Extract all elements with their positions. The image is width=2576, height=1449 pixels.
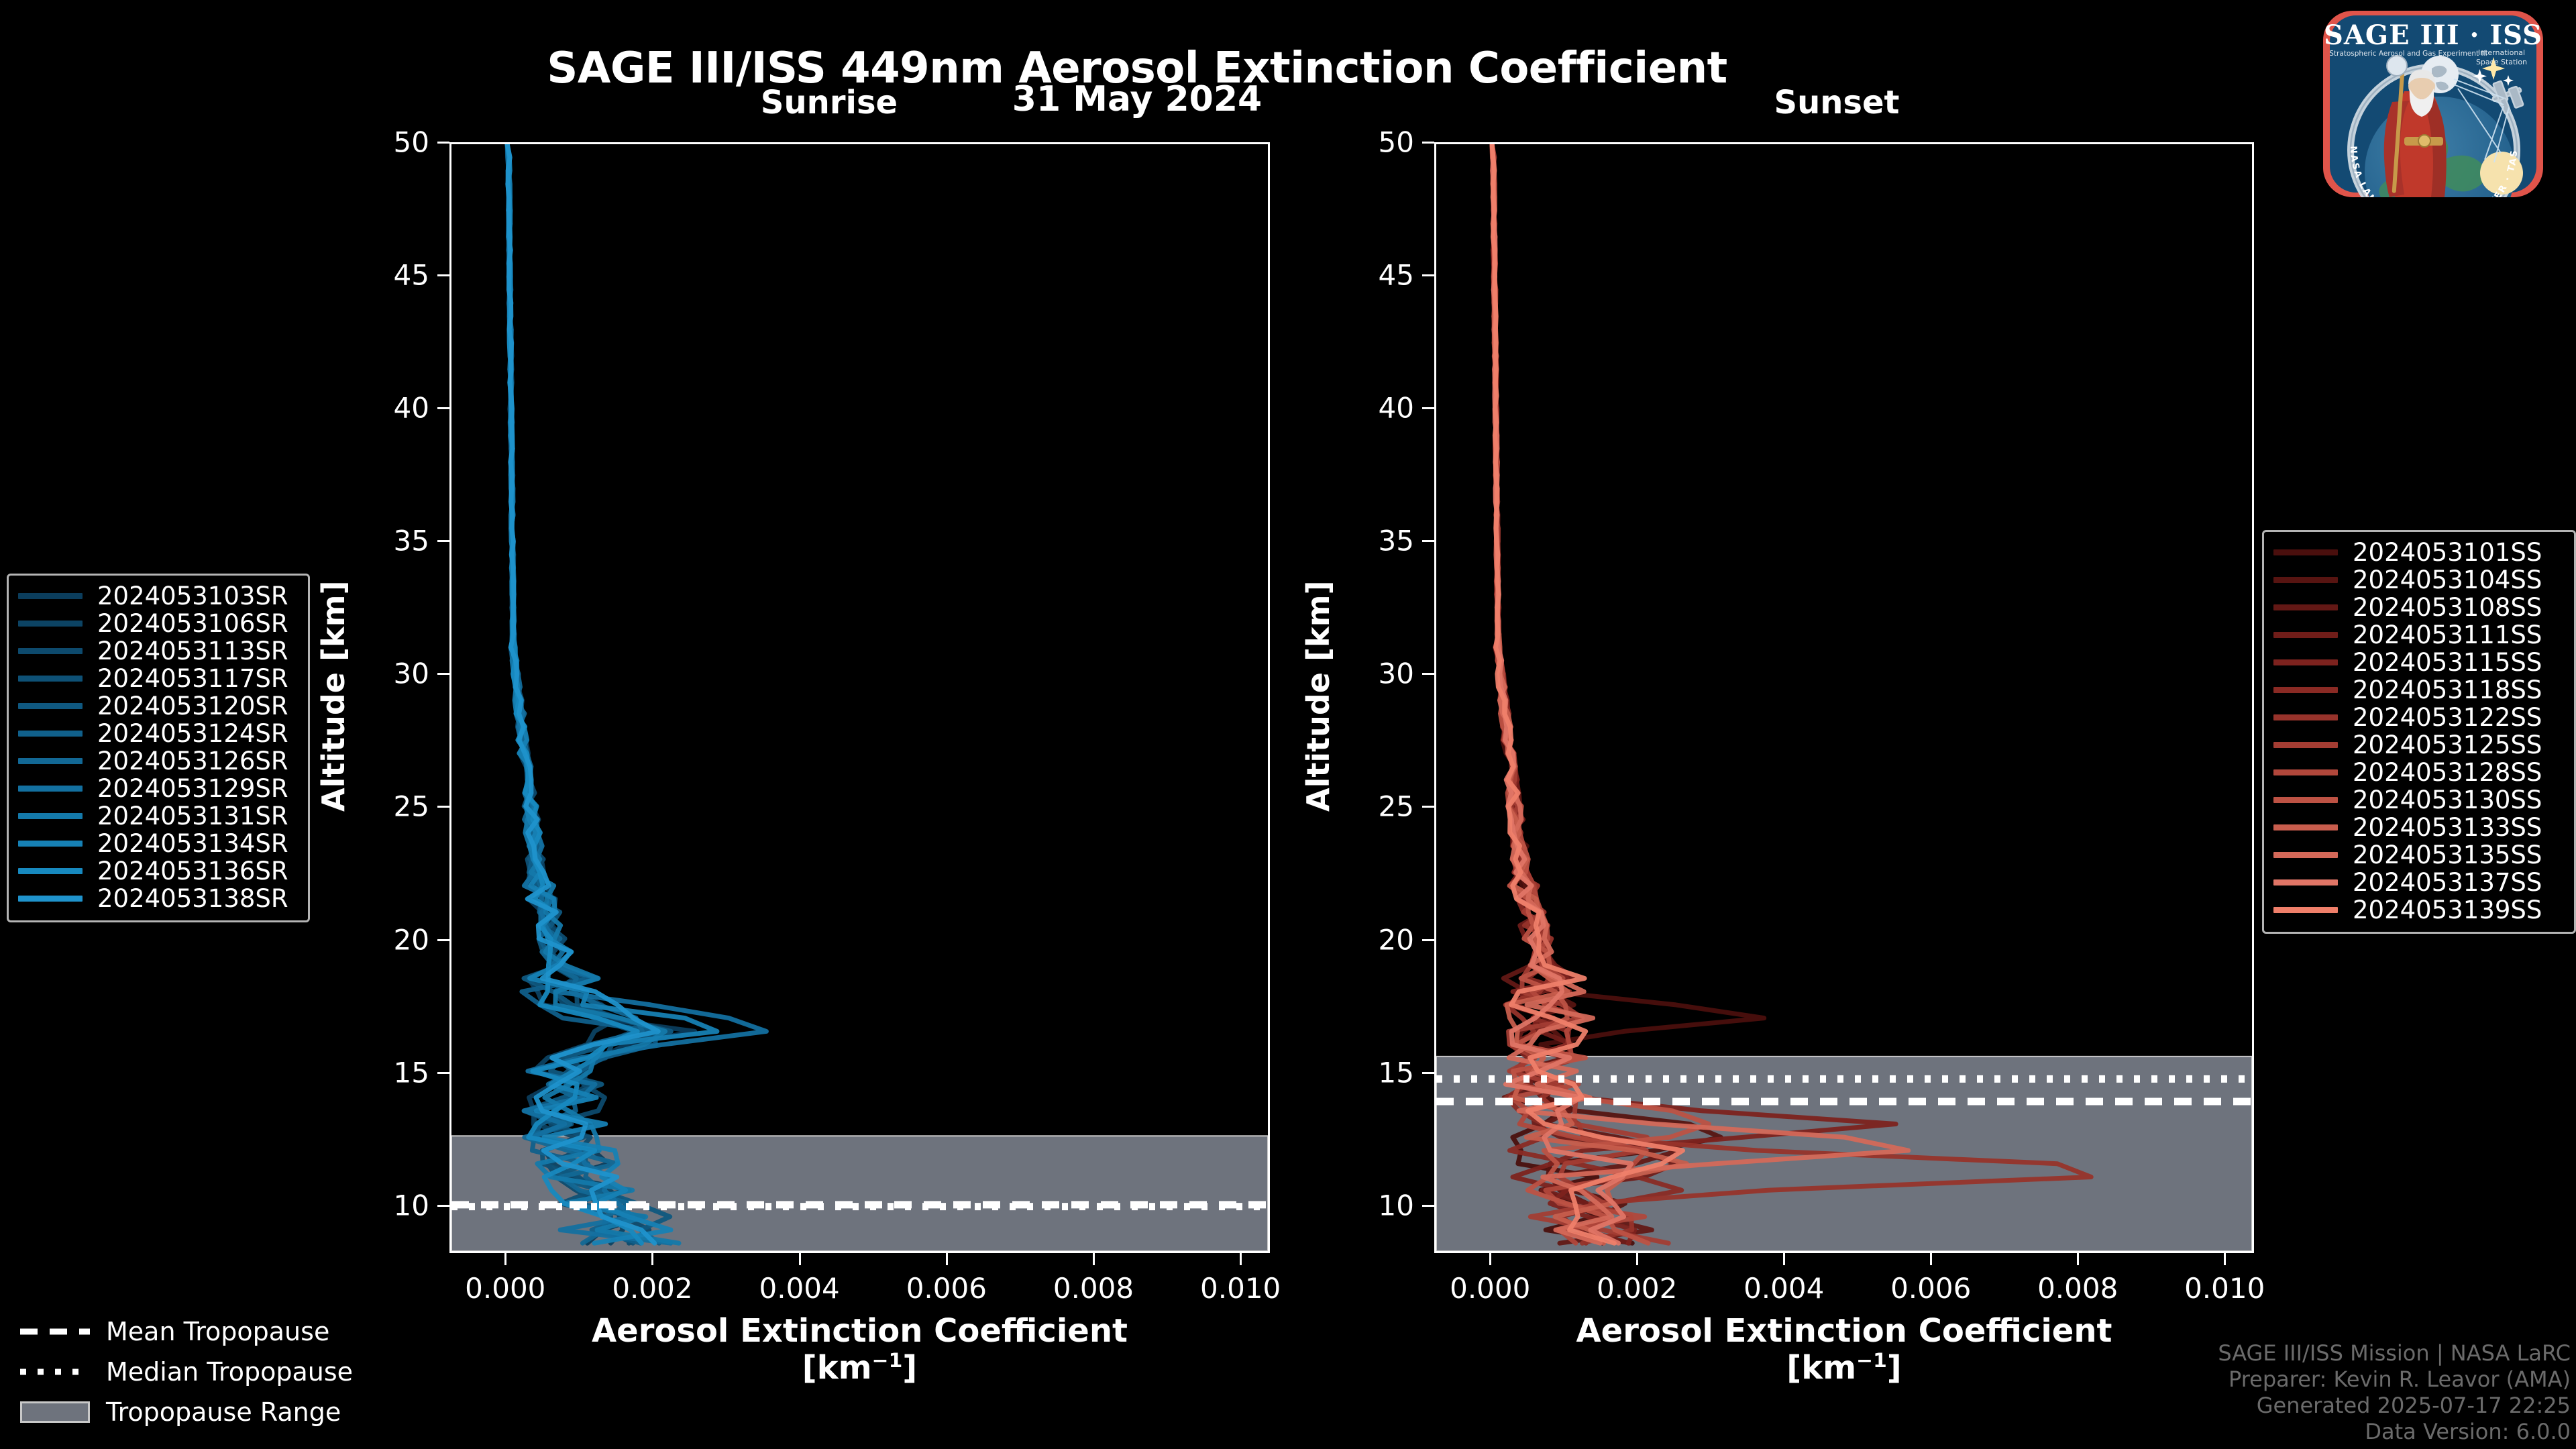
legend-color-swatch [18,758,83,764]
dotted-line-icon [20,1364,90,1380]
credits-line-4: Data Version: 6.0.0 [2218,1419,2571,1445]
legend-label: 2024053130SS [2353,786,2542,814]
x-tick-mark [2077,1253,2079,1265]
dashed-line-icon [20,1324,90,1340]
legend-item[interactable]: 2024053137SS [2273,869,2565,896]
y-tick-mark [1422,1205,1434,1207]
legend-color-swatch [2273,907,2338,913]
legend-item[interactable]: 2024053108SS [2273,594,2565,621]
y-tick-mark [1422,274,1434,276]
y-tick-mark [437,274,449,276]
legend-label: 2024053115SS [2353,648,2542,677]
legend-label: 2024053113SR [97,637,288,665]
legend-label: 2024053117SR [97,664,288,693]
legend-color-swatch [2273,687,2338,693]
legend-item[interactable]: 2024053103SR [18,582,299,610]
profile-line [507,144,671,1243]
legend-item[interactable]: 2024053117SR [18,665,299,692]
y-tick-label: 45 [349,259,429,292]
panel-title-sunset: Sunset [1689,84,1984,121]
logo-subtitle-left: Stratospheric Aerosol and Gas Experiment… [2329,50,2487,58]
y-tick-label: 30 [1334,657,1414,690]
legend-item[interactable]: 2024053129SR [18,775,299,802]
legend-item-mean-tropopause: Mean Tropopause [20,1311,396,1352]
logo-subtitle-right-1: International [2478,48,2525,57]
legend-sunrise[interactable]: 2024053103SR2024053106SR2024053113SR2024… [7,574,310,922]
x-tick-label: 0.006 [1890,1272,1971,1305]
logo-title: SAGE III · ISS [2324,19,2542,51]
x-axis-label: Aerosol Extinction Coefficient[km−1] [449,1313,1270,1387]
x-tick-mark [1783,1253,1785,1265]
legend-label: 2024053135SS [2353,841,2542,869]
legend-color-swatch [2273,879,2338,885]
panel-title-sunrise: Sunrise [682,84,977,121]
legend-color-swatch [18,731,83,737]
legend-label: 2024053133SS [2353,813,2542,842]
x-tick-label: 0.002 [612,1272,692,1305]
y-tick-mark [437,939,449,941]
y-tick-mark [1422,407,1434,409]
plot-area-sunrise [449,142,1270,1253]
profile-line [507,144,679,1243]
legend-color-swatch [2273,714,2338,720]
legend-label: 2024053139SS [2353,896,2542,924]
legend-color-swatch [2273,659,2338,665]
profile-lines-sunset [1436,144,2252,1251]
legend-color-swatch [2273,797,2338,803]
legend-color-swatch [2273,577,2338,583]
y-tick-label: 15 [349,1056,429,1089]
y-tick-label: 50 [349,126,429,159]
x-tick-mark [1636,1253,1638,1265]
legend-item[interactable]: 2024053134SR [18,830,299,857]
x-tick-mark [946,1253,948,1265]
legend-item[interactable]: 2024053136SR [18,857,299,885]
figure-root: SAGE III/ISS 449nm Aerosol Extinction Co… [0,0,2576,1449]
x-tick-label: 0.008 [1053,1272,1134,1305]
legend-label: 2024053101SS [2353,538,2542,567]
y-tick-label: 50 [1334,126,1414,159]
profile-line [507,144,766,1243]
legend-color-swatch [18,648,83,654]
x-tick-mark [1930,1253,1932,1265]
legend-label: 2024053118SS [2353,676,2542,704]
legend-item-median-tropopause: Median Tropopause [20,1352,396,1392]
y-tick-mark [1422,1072,1434,1074]
logo-subtitle-right-2: Space Station [2476,58,2527,66]
x-tick-label: 0.002 [1597,1272,1677,1305]
x-tick-mark [1240,1253,1242,1265]
y-tick-mark [1422,673,1434,675]
credits-line-1: SAGE III/ISS Mission | NASA LaRC [2218,1340,2571,1366]
legend-label: 2024053134SR [97,829,288,858]
legend-color-swatch [18,841,83,847]
legend-color-swatch [2273,604,2338,610]
x-tick-mark [1093,1253,1095,1265]
credits-block: SAGE III/ISS Mission | NASA LaRC Prepare… [2218,1340,2571,1445]
y-tick-mark [1422,806,1434,808]
legend-item[interactable]: 2024053104SS [2273,566,2565,594]
y-tick-label: 35 [1334,525,1414,557]
legend-label: 2024053122SS [2353,703,2542,732]
legend-color-swatch [2273,769,2338,775]
y-tick-label: 10 [1334,1189,1414,1222]
sage-iii-iss-logo: BALL · NASA LANGLEY RESEARCH CENTER · TA… [2302,4,2564,197]
legend-label: 2024053129SR [97,774,288,803]
legend-label: 2024053111SS [2353,621,2542,649]
tropopause-range-label: Tropopause Range [106,1397,341,1427]
legend-color-swatch [2273,742,2338,748]
legend-color-swatch [18,813,83,819]
legend-label: 2024053103SR [97,582,288,610]
y-tick-label: 25 [349,790,429,823]
y-tick-mark [437,673,449,675]
legend-color-swatch [2273,549,2338,555]
tropopause-legend: Mean Tropopause Median Tropopause Tropop… [20,1311,396,1432]
legend-label: 2024053104SS [2353,566,2542,594]
y-tick-mark [437,1072,449,1074]
legend-color-swatch [18,786,83,792]
median-tropopause-label: Median Tropopause [106,1357,353,1387]
legend-item[interactable]: 2024053115SS [2273,649,2565,676]
legend-label: 2024053126SR [97,747,288,775]
x-tick-label: 0.004 [1743,1272,1824,1305]
y-tick-label: 20 [349,923,429,956]
legend-label: 2024053124SR [97,719,288,748]
x-tick-label: 0.010 [2184,1272,2265,1305]
x-tick-label: 0.000 [465,1272,545,1305]
legend-item[interactable]: 2024053139SS [2273,896,2565,924]
legend-color-swatch [18,676,83,682]
y-axis-label: Altitude [km] [315,580,352,812]
legend-label: 2024053138SR [97,884,288,913]
legend-item[interactable]: 2024053124SR [18,720,299,747]
legend-color-swatch [18,703,83,709]
legend-item[interactable]: 2024053130SS [2273,786,2565,814]
legend-label: 2024053137SS [2353,868,2542,897]
legend-label: 2024053131SR [97,802,288,830]
legend-color-swatch [18,621,83,627]
legend-item[interactable]: 2024053128SS [2273,759,2565,786]
x-tick-label: 0.004 [759,1272,840,1305]
x-tick-mark [2224,1253,2226,1265]
legend-label: 2024053120SR [97,692,288,720]
legend-sunset[interactable]: 2024053101SS2024053104SS2024053108SS2024… [2262,530,2576,934]
mean-tropopause-label: Mean Tropopause [106,1317,329,1346]
x-tick-label: 0.008 [2037,1272,2118,1305]
legend-item[interactable]: 2024053138SR [18,885,299,912]
y-tick-mark [437,540,449,542]
y-tick-label: 30 [349,657,429,690]
y-tick-mark [437,806,449,808]
legend-item[interactable]: 2024053135SS [2273,841,2565,869]
legend-item[interactable]: 2024053106SR [18,610,299,637]
y-tick-label: 40 [1334,392,1414,425]
x-tick-mark [799,1253,801,1265]
legend-item-tropopause-range: Tropopause Range [20,1392,396,1432]
legend-color-swatch [18,868,83,874]
x-tick-mark [1489,1253,1491,1265]
y-tick-label: 45 [1334,259,1414,292]
y-tick-mark [437,142,449,144]
y-tick-mark [437,1205,449,1207]
profile-line [507,144,717,1243]
legend-item[interactable]: 2024053131SR [18,802,299,830]
legend-label: 2024053108SS [2353,593,2542,622]
plot-area-sunset [1434,142,2254,1253]
legend-label: 2024053106SR [97,609,288,638]
y-tick-mark [1422,939,1434,941]
legend-color-swatch [18,593,83,599]
legend-item[interactable]: 2024053122SS [2273,704,2565,731]
x-tick-label: 0.000 [1450,1272,1530,1305]
legend-item[interactable]: 2024053101SS [2273,539,2565,566]
legend-item[interactable]: 2024053118SS [2273,676,2565,704]
legend-item[interactable]: 2024053111SS [2273,621,2565,649]
legend-label: 2024053128SS [2353,758,2542,787]
credits-line-3: Generated 2025-07-17 22:25 [2218,1393,2571,1419]
x-tick-label: 0.006 [906,1272,987,1305]
x-tick-mark [504,1253,506,1265]
y-tick-mark [1422,142,1434,144]
legend-item[interactable]: 2024053125SS [2273,731,2565,759]
x-tick-mark [651,1253,653,1265]
y-tick-label: 20 [1334,923,1414,956]
legend-item[interactable]: 2024053133SS [2273,814,2565,841]
legend-color-swatch [2273,852,2338,858]
y-tick-mark [437,407,449,409]
legend-color-swatch [2273,824,2338,830]
legend-label: 2024053125SS [2353,731,2542,759]
y-tick-label: 35 [349,525,429,557]
legend-item[interactable]: 2024053120SR [18,692,299,720]
legend-color-swatch [18,896,83,902]
legend-label: 2024053136SR [97,857,288,885]
legend-item[interactable]: 2024053126SR [18,747,299,775]
y-tick-label: 25 [1334,790,1414,823]
y-tick-label: 40 [349,392,429,425]
profile-line [507,144,694,1243]
profile-lines-sunrise [451,144,1268,1251]
y-axis-label: Altitude [km] [1300,580,1336,812]
y-tick-label: 15 [1334,1056,1414,1089]
legend-item[interactable]: 2024053113SR [18,637,299,665]
credits-line-2: Preparer: Kevin R. Leavor (AMA) [2218,1366,2571,1393]
y-tick-mark [1422,540,1434,542]
legend-color-swatch [2273,632,2338,638]
range-swatch-icon [20,1401,90,1423]
x-tick-label: 0.010 [1200,1272,1281,1305]
y-tick-label: 10 [349,1189,429,1222]
x-axis-label: Aerosol Extinction Coefficient[km−1] [1434,1313,2254,1387]
